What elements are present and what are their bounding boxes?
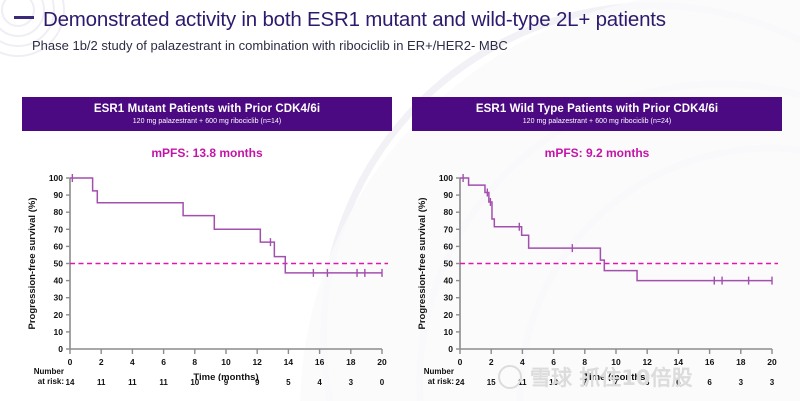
panel-esr1-mutant: ESR1 Mutant Patients with Prior CDK4/6i … [22, 97, 392, 381]
y-tick-label: 70 [444, 224, 454, 234]
risk-label-line1: Number [10, 367, 64, 377]
em-dash-icon [14, 16, 34, 19]
risk-value: 11 [92, 378, 110, 387]
y-tick-label: 0 [58, 344, 63, 354]
risk-value: 3 [732, 378, 750, 387]
y-tick-label: 100 [49, 173, 63, 183]
risk-value: 11 [155, 378, 173, 387]
x-tick-label: 18 [346, 357, 356, 367]
y-tick-label: 40 [54, 276, 64, 286]
x-tick-label: 18 [736, 357, 746, 367]
x-tick-label: 2 [99, 357, 104, 367]
x-tick-label: 8 [192, 357, 197, 367]
x-tick-label: 14 [284, 357, 294, 367]
x-tick-label: 16 [705, 357, 715, 367]
x-tick-label: 4 [130, 357, 135, 367]
y-tick-label: 100 [439, 173, 453, 183]
km-chart-esr1-mutant: 010203040506070809010002468101214161820T… [22, 166, 392, 381]
y-tick-label: 10 [54, 327, 64, 337]
y-tick-label: 50 [444, 259, 454, 269]
y-axis-label: Progression-free survival (%) [27, 198, 38, 330]
risk-value: 6 [701, 378, 719, 387]
title-row: Demonstrated activity in both ESR1 mutan… [0, 0, 800, 32]
number-at-risk-label: Numberat risk: [400, 367, 454, 387]
y-tick-label: 20 [54, 310, 64, 320]
risk-value: 4 [311, 378, 329, 387]
number-at-risk-label: Numberat risk: [10, 367, 64, 387]
risk-label-line2: at risk: [400, 377, 454, 387]
y-tick-label: 80 [444, 207, 454, 217]
watermark: 雪球 抓住10倍股 [498, 362, 693, 392]
panel-header-subtitle: 120 mg palazestrant + 600 mg ribociclib … [416, 118, 778, 125]
y-tick-label: 0 [448, 344, 453, 354]
risk-value: 5 [279, 378, 297, 387]
risk-value: 9 [217, 378, 235, 387]
risk-value: 24 [451, 378, 469, 387]
panel-esr1-wild-type: ESR1 Wild Type Patients with Prior CDK4/… [412, 97, 782, 381]
y-tick-label: 40 [444, 276, 454, 286]
risk-value: 3 [342, 378, 360, 387]
y-tick-label: 30 [444, 293, 454, 303]
x-tick-label: 12 [252, 357, 262, 367]
risk-value: 3 [763, 378, 781, 387]
risk-value: 14 [61, 378, 79, 387]
y-tick-label: 70 [54, 224, 64, 234]
x-tick-label: 10 [221, 357, 231, 367]
number-at-risk-left: Numberat risk:1411111110995430 [22, 367, 392, 393]
mpfs-label: mPFS: 13.8 months [22, 146, 392, 160]
risk-value: 10 [186, 378, 204, 387]
y-tick-label: 30 [54, 293, 64, 303]
x-tick-label: 0 [68, 357, 73, 367]
risk-value: 11 [123, 378, 141, 387]
y-axis-label: Progression-free survival (%) [417, 198, 428, 330]
panel-header-title: ESR1 Mutant Patients with Prior CDK4/6i [26, 103, 388, 115]
panel-header-subtitle: 120 mg palazestrant + 600 mg ribociclib … [26, 118, 388, 125]
risk-value: 9 [248, 378, 266, 387]
y-tick-label: 50 [54, 259, 64, 269]
x-tick-label: 2 [489, 357, 494, 367]
panel-header: ESR1 Mutant Patients with Prior CDK4/6i … [22, 97, 392, 131]
watermark-text: 雪球 抓住10倍股 [530, 362, 693, 392]
risk-label-line1: Number [400, 367, 454, 377]
y-tick-label: 60 [444, 241, 454, 251]
risk-value: 0 [373, 378, 391, 387]
x-tick-label: 6 [161, 357, 166, 367]
x-tick-label: 16 [315, 357, 325, 367]
y-tick-label: 90 [54, 190, 64, 200]
x-tick-label: 0 [458, 357, 463, 367]
y-tick-label: 10 [444, 327, 454, 337]
circle-logo-icon [498, 365, 522, 389]
risk-label-line2: at risk: [10, 377, 64, 387]
y-tick-label: 80 [54, 207, 64, 217]
x-tick-label: 20 [377, 357, 387, 367]
y-tick-label: 90 [444, 190, 454, 200]
panel-header: ESR1 Wild Type Patients with Prior CDK4/… [412, 97, 782, 131]
slide-header: Demonstrated activity in both ESR1 mutan… [0, 0, 800, 82]
x-tick-label: 20 [767, 357, 777, 367]
panel-header-title: ESR1 Wild Type Patients with Prior CDK4/… [416, 103, 778, 115]
km-curve [460, 178, 772, 281]
page-subtitle: Phase 1b/2 study of palazestrant in comb… [0, 38, 800, 53]
y-tick-label: 60 [54, 241, 64, 251]
y-tick-label: 20 [444, 310, 454, 320]
mpfs-label: mPFS: 9.2 months [412, 146, 782, 160]
page-title: Demonstrated activity in both ESR1 mutan… [43, 8, 666, 32]
km-chart-esr1-wild-type: 010203040506070809010002468101214161820T… [412, 166, 782, 381]
km-curve [70, 178, 382, 273]
